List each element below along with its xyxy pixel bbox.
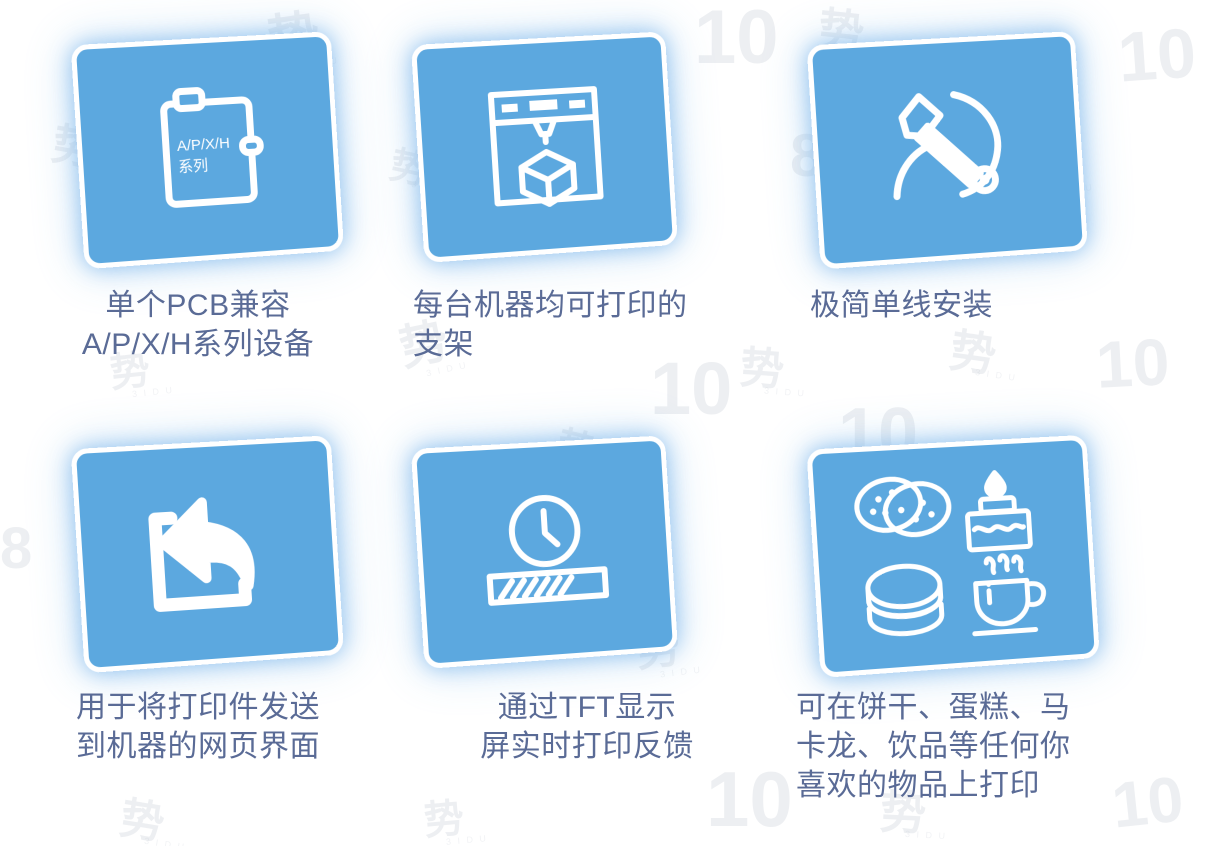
card-surface	[411, 31, 678, 263]
macaron-icon	[867, 564, 943, 636]
card-tile	[78, 442, 340, 664]
card-surface: A/P/X/H 系列	[71, 31, 344, 269]
feature-card-tft-feedback: 通过TFT显示 屏实时打印反馈	[396, 400, 778, 846]
wrench-cable-icon	[812, 36, 1083, 264]
card-surface	[806, 435, 1099, 678]
feature-card-simple-wiring: 极简单线安装	[778, 0, 1210, 400]
card-surface	[411, 435, 678, 669]
card-caption: 单个PCB兼容 A/P/X/H系列设备	[10, 286, 386, 364]
card-caption: 可在饼干、蛋糕、马 卡龙、饮品等任何你 喜欢的物品上打印	[796, 688, 1176, 805]
feature-card-printable-bracket: 每台机器均可打印的 支架	[396, 0, 778, 400]
card-tile	[418, 442, 674, 660]
clock-progress-icon	[416, 441, 673, 664]
feature-card-grid: A/P/X/H 系列 单个PCB兼容 A/P/X/H系列设备	[0, 0, 1210, 846]
card-caption: 通过TFT显示 屏实时打印反馈	[401, 688, 773, 766]
coffee-cup-icon	[970, 553, 1046, 633]
card-caption: 极简单线安装	[810, 286, 1170, 325]
card-surface	[71, 435, 344, 673]
card-tile	[814, 38, 1084, 260]
card-caption: 每台机器均可打印的 支架	[413, 286, 763, 364]
card-tile: A/P/X/H 系列	[78, 38, 340, 260]
pcb-board-icon: A/P/X/H 系列	[76, 36, 339, 263]
feature-card-pcb-compatibility: A/P/X/H 系列 单个PCB兼容 A/P/X/H系列设备	[0, 0, 396, 400]
card-tile	[418, 38, 674, 254]
cake-icon	[965, 471, 1031, 550]
pcb-series-line2: 系列	[178, 157, 209, 176]
3d-printer-icon	[416, 37, 673, 258]
feature-card-printable-surfaces: 可在饼干、蛋糕、马 卡龙、饮品等任何你 喜欢的物品上打印	[778, 400, 1210, 846]
food-items-icon	[812, 440, 1095, 673]
card-tile	[814, 442, 1096, 668]
pcb-series-line1: A/P/X/H	[176, 135, 230, 155]
feature-card-web-interface: 用于将打印件发送 到机器的网页界面	[0, 400, 396, 846]
send-arrow-icon	[76, 440, 339, 667]
cookies-icon	[852, 472, 954, 542]
card-surface	[807, 31, 1088, 270]
card-caption: 用于将打印件发送 到机器的网页界面	[10, 688, 386, 766]
